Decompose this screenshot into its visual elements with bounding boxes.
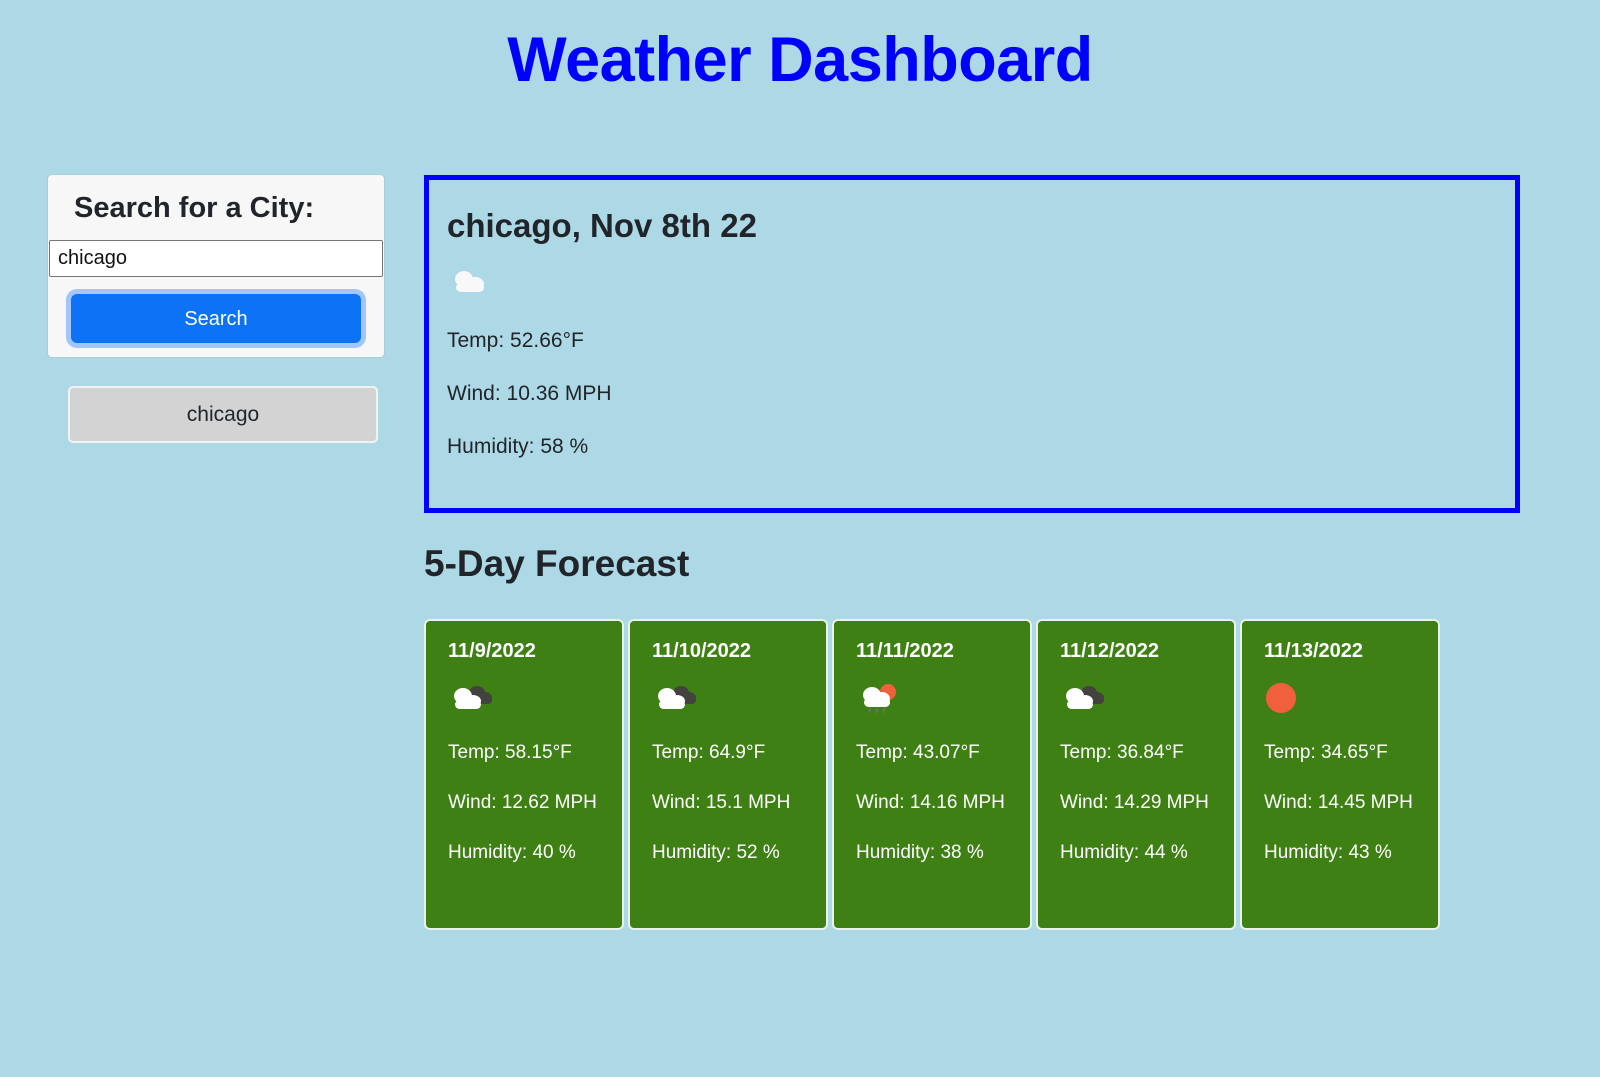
search-history-list: chicago	[48, 386, 384, 443]
forecast-row: 11/9/2022	[424, 619, 1520, 930]
current-wind: Wind: 10.36 MPH	[447, 383, 1515, 404]
forecast-humidity: Humidity: 38 %	[856, 843, 1030, 862]
forecast-humidity: Humidity: 40 %	[448, 843, 622, 862]
forecast-date: 11/12/2022	[1060, 641, 1234, 661]
search-input[interactable]	[49, 240, 383, 277]
forecast-temp: Temp: 34.65°F	[1264, 743, 1438, 762]
forecast-temp: Temp: 43.07°F	[856, 743, 1030, 762]
search-sidebar: Search for a City: Search chicago	[48, 175, 384, 443]
forecast-date: 11/11/2022	[856, 641, 1030, 661]
forecast-wind: Wind: 14.45 MPH	[1264, 793, 1438, 812]
current-temp: Temp: 52.66°F	[447, 330, 1515, 351]
forecast-date: 11/10/2022	[652, 641, 826, 661]
search-heading: Search for a City:	[48, 175, 384, 240]
broken-clouds-icon	[448, 678, 622, 718]
forecast-temp: Temp: 58.15°F	[448, 743, 622, 762]
forecast-card: 11/11/2022	[832, 619, 1032, 930]
forecast-humidity: Humidity: 43 %	[1264, 843, 1438, 862]
sun-rain-cloud-icon	[856, 678, 1030, 718]
search-panel: Search for a City: Search	[48, 175, 384, 357]
forecast-card: 11/12/2022	[1036, 619, 1236, 930]
forecast-card: 11/9/2022	[424, 619, 624, 930]
search-button[interactable]: Search	[71, 294, 361, 343]
forecast-heading: 5-Day Forecast	[424, 513, 1520, 586]
search-button-wrap: Search	[48, 277, 384, 343]
weather-content: chicago, Nov 8th 22 Temp: 52.66°F Wind: …	[424, 175, 1520, 930]
forecast-humidity: Humidity: 52 %	[652, 843, 826, 862]
forecast-wind: Wind: 12.62 MPH	[448, 793, 622, 812]
broken-clouds-icon	[652, 678, 826, 718]
history-item-chicago[interactable]: chicago	[68, 386, 378, 443]
forecast-temp: Temp: 36.84°F	[1060, 743, 1234, 762]
clear-sky-sun-icon	[1264, 678, 1438, 718]
forecast-card: 11/13/2022 Temp: 34.65°F Wind: 14.45 MPH…	[1240, 619, 1440, 930]
broken-clouds-icon	[1060, 678, 1234, 718]
overcast-clouds-icon	[447, 260, 1515, 304]
current-weather-heading: chicago, Nov 8th 22	[447, 206, 1515, 246]
forecast-humidity: Humidity: 44 %	[1060, 843, 1234, 862]
current-humidity: Humidity: 58 %	[447, 436, 1515, 457]
current-weather-card: chicago, Nov 8th 22 Temp: 52.66°F Wind: …	[424, 175, 1520, 513]
forecast-wind: Wind: 14.29 MPH	[1060, 793, 1234, 812]
forecast-wind: Wind: 15.1 MPH	[652, 793, 826, 812]
forecast-wind: Wind: 14.16 MPH	[856, 793, 1030, 812]
forecast-date: 11/13/2022	[1264, 641, 1438, 661]
forecast-date: 11/9/2022	[448, 641, 622, 661]
forecast-card: 11/10/2022	[628, 619, 828, 930]
forecast-temp: Temp: 64.9°F	[652, 743, 826, 762]
page-title: Weather Dashboard	[0, 0, 1600, 95]
